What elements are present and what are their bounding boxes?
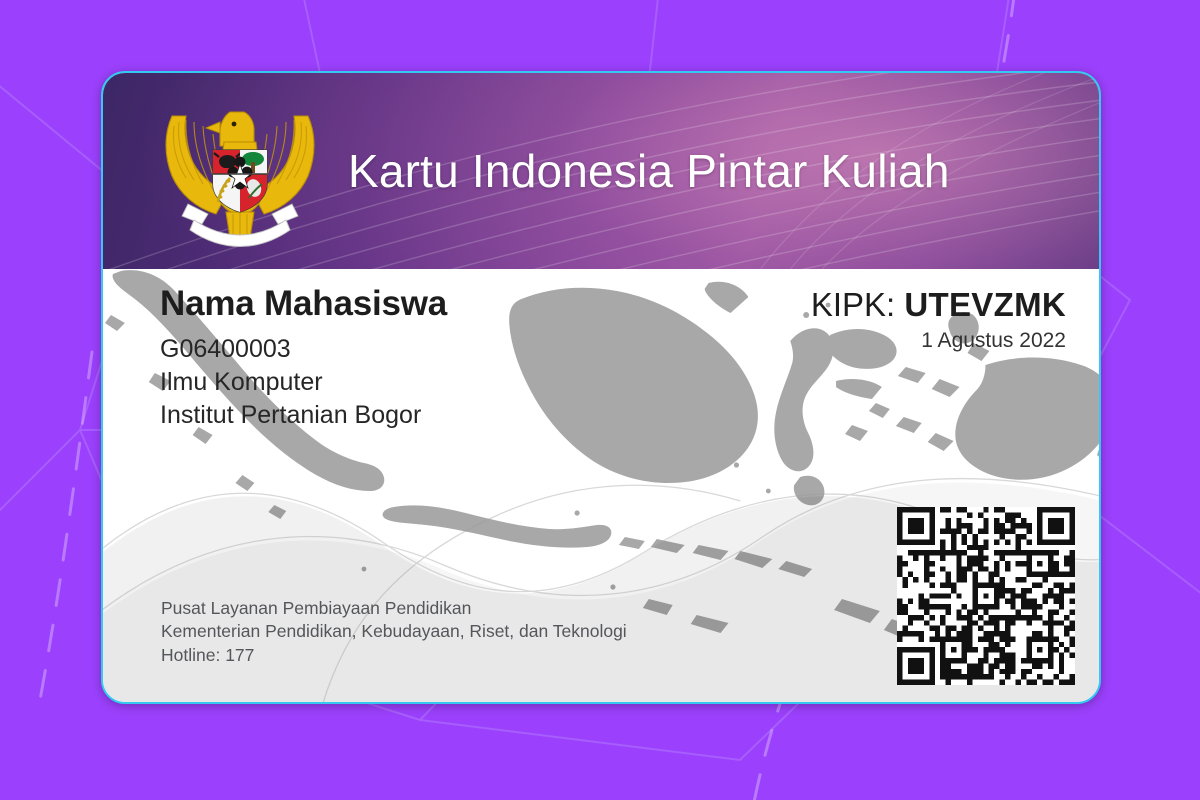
garuda-pancasila-emblem bbox=[158, 100, 322, 250]
kipk-info: KIPK: UTEVZMK 1 Agustus 2022 bbox=[811, 287, 1066, 353]
kipk-value: UTEVZMK bbox=[904, 286, 1066, 323]
footer-line-3: Hotline: 177 bbox=[161, 644, 627, 668]
kipk-date: 1 Agustus 2022 bbox=[811, 329, 1066, 353]
kipk-label: KIPK: bbox=[811, 286, 895, 323]
card-body: Nama Mahasiswa G06400003 Ilmu Komputer I… bbox=[103, 269, 1099, 704]
student-program: Ilmu Komputer bbox=[160, 366, 447, 399]
card-footer: Pusat Layanan Pembiayaan Pendidikan Keme… bbox=[161, 597, 627, 668]
kipk-card: Kartu Indonesia Pintar Kuliah bbox=[101, 71, 1101, 704]
footer-line-2: Kementerian Pendidikan, Kebudayaan, Rise… bbox=[161, 620, 627, 644]
student-institution: Institut Pertanian Bogor bbox=[160, 399, 447, 432]
kipk-number-row: KIPK: UTEVZMK bbox=[811, 287, 1066, 324]
student-nim: G06400003 bbox=[160, 333, 447, 366]
page-title: Kartu Indonesia Pintar Kuliah bbox=[348, 73, 950, 269]
student-name: Nama Mahasiswa bbox=[160, 285, 447, 323]
card-header: Kartu Indonesia Pintar Kuliah bbox=[103, 73, 1099, 269]
qr-code-icon bbox=[897, 507, 1075, 685]
footer-line-1: Pusat Layanan Pembiayaan Pendidikan bbox=[161, 597, 627, 621]
student-info: Nama Mahasiswa G06400003 Ilmu Komputer I… bbox=[160, 285, 447, 432]
qr-code[interactable] bbox=[897, 507, 1075, 685]
